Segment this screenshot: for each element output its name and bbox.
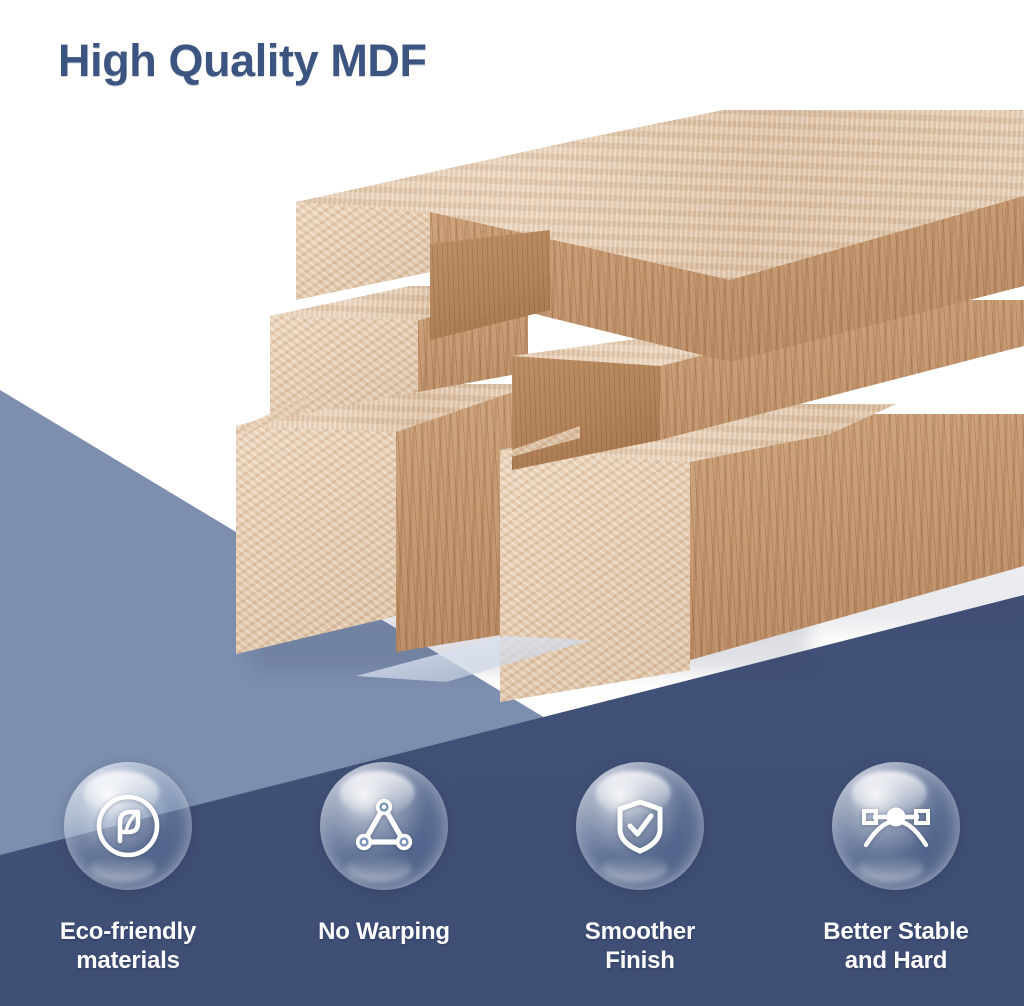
- shield-check-icon: [603, 789, 677, 863]
- triangle-nodes-icon: [347, 789, 421, 863]
- bezier-anchor-curve-icon: [856, 789, 936, 863]
- feature-bubble: [64, 762, 192, 890]
- feature-item-no-warping[interactable]: No Warping: [256, 762, 512, 946]
- feature-item-smoother-finish[interactable]: Smoother Finish: [512, 762, 768, 976]
- page-title: High Quality MDF: [58, 36, 427, 86]
- feature-bubble: [832, 762, 960, 890]
- feature-label: Eco-friendly materials: [60, 917, 196, 976]
- leaf-in-circle-icon: [91, 789, 165, 863]
- feature-bubble: [576, 762, 704, 890]
- product-feature-poster: High Quality MDF Eco-friendly materials: [0, 0, 1024, 1006]
- feature-label: Better Stable and Hard: [823, 917, 968, 976]
- feature-item-better-stable-and-hard[interactable]: Better Stable and Hard: [768, 762, 1024, 976]
- feature-item-eco-friendly[interactable]: Eco-friendly materials: [0, 762, 256, 976]
- feature-strip: Eco-friendly materials No Warping: [0, 762, 1024, 1006]
- feature-label: Smoother Finish: [585, 917, 695, 976]
- feature-label: No Warping: [318, 917, 450, 946]
- feature-bubble: [320, 762, 448, 890]
